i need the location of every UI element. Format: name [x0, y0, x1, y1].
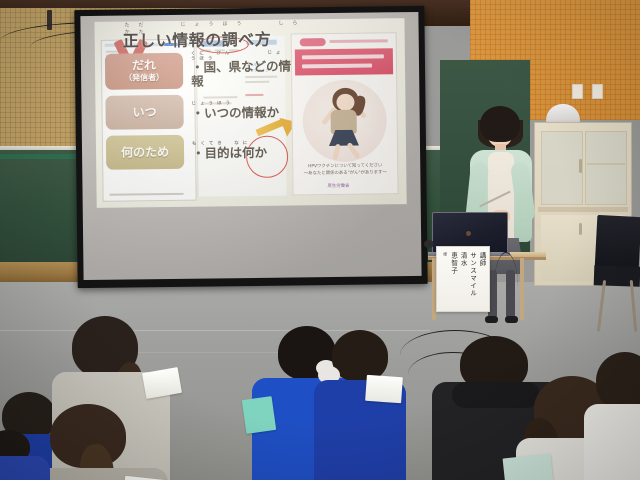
slide-title: 正しい情報の調べ方: [123, 25, 323, 51]
poster-illustration: [302, 79, 387, 162]
light-switch[interactable]: [592, 84, 603, 99]
slide-box-who: だれ （発信者）: [105, 53, 183, 90]
slide-box-why: 何のため: [106, 135, 184, 170]
slide-bullet-2-text: ・いつの情報か: [191, 104, 279, 120]
placard-col-role: 講師: [478, 252, 485, 306]
student-left-3: [0, 430, 50, 480]
slide-bullet-1-text: ・国、県などの情報: [191, 59, 291, 90]
poster-caption: HPVワクチンについて知ってください 〜あなたと関係のある"がん"があります〜: [299, 163, 391, 177]
placard-col-surname: 清水: [459, 252, 466, 306]
placard-text: 講師 サンスマイル 清水 恵智子 様: [443, 252, 485, 306]
slide-bullet-3: もくてき なに ・目的は何か: [192, 142, 267, 161]
projection-screen: ウイルス HPVワクチン: [74, 6, 427, 288]
cabinet-glass-door-left[interactable]: [541, 131, 583, 205]
slide-box-who-sub: （発信者）: [124, 72, 164, 83]
placard-col-givenname: 恵智子: [449, 252, 456, 306]
cabinet-glass-door-right[interactable]: [585, 131, 627, 205]
lecture-room-photo: ウイルス HPVワクチン: [0, 0, 640, 480]
light-switch[interactable]: [572, 84, 583, 99]
placard-col-org: サンスマイル: [468, 252, 475, 306]
folding-chair: [594, 216, 640, 334]
placard-col-honorific: 様: [443, 252, 448, 306]
hpv-poster: HPVワクチンについて知ってください 〜あなたと関係のある"がん"があります〜 …: [291, 32, 399, 195]
projection-surface: ウイルス HPVワクチン: [80, 12, 421, 280]
poster-logo: 厚生労働省: [327, 183, 349, 189]
student-right-2: [588, 352, 640, 480]
student-far-right: [318, 330, 404, 480]
slide-box-why-main: 何のため: [121, 146, 169, 159]
slide-box-when: いつ: [105, 95, 183, 130]
power-cable: [494, 252, 518, 323]
poster-tag-line: [330, 39, 388, 43]
name-placard: 講師 サンスマイル 清水 恵智子 様: [436, 246, 490, 312]
slide-box-who-main: だれ: [132, 59, 156, 72]
slide-box-when-main: いつ: [132, 106, 156, 119]
projected-slide: ウイルス HPVワクチン: [94, 18, 406, 208]
poster-caption-line-2: 〜あなたと関係のある"がん"があります〜: [299, 170, 391, 178]
mouse[interactable]: [424, 240, 434, 248]
slide-bullet-1: くに けん じょうほう ・国、県などの情報: [191, 52, 291, 90]
presenter-hair: [480, 106, 520, 142]
slide-bullet-3-text: ・目的は何か: [192, 144, 267, 160]
slide-bullet-2: じょうほう ・いつの情報か: [191, 102, 279, 121]
laptop-logo-icon: [466, 231, 471, 236]
poster-headline-band: [295, 48, 393, 75]
